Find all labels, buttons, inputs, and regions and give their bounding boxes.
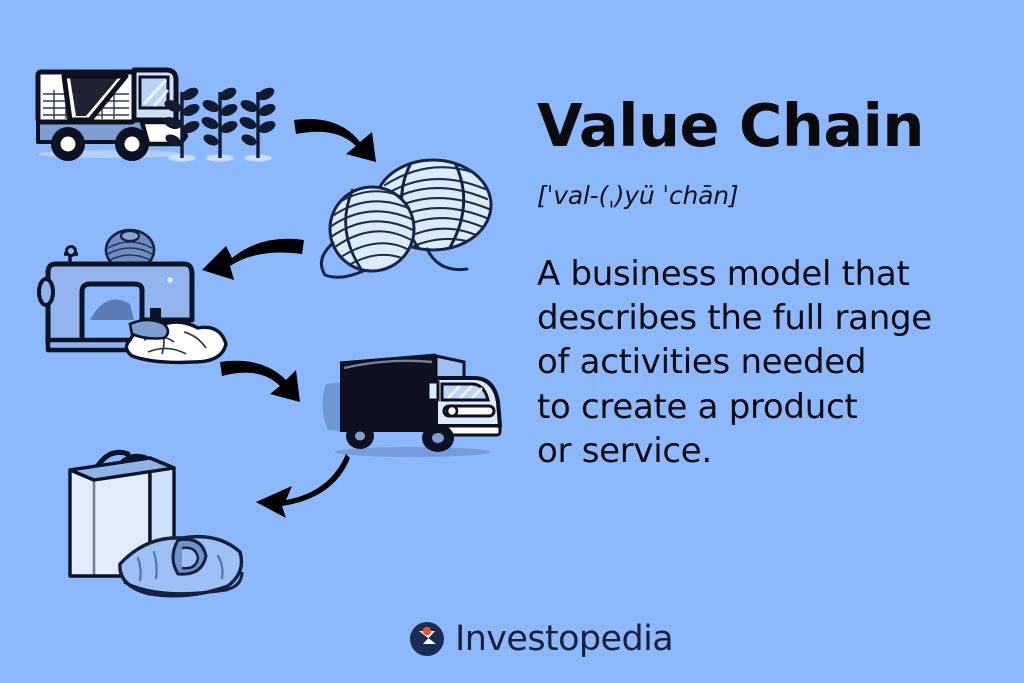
definition-line: describes the full range — [537, 296, 987, 340]
flow-arrow-3-icon — [214, 352, 324, 412]
definition-line: of activities needed — [537, 340, 987, 384]
definition-line: or service. — [537, 429, 987, 473]
investopedia-logo: Investopedia — [408, 620, 673, 658]
cotton-harvester-and-plants-illustration — [30, 50, 290, 165]
yarn-loose-thread — [427, 249, 467, 270]
pronunciation-text: [ˈval-(ˌ)yü ˈchān] — [537, 155, 987, 210]
page-title: Value Chain — [537, 96, 987, 155]
cotton-plant — [238, 85, 278, 161]
definition-line: A business model that — [537, 252, 987, 296]
yarn-balls-illustration — [315, 155, 505, 285]
delivery-truck-illustration — [318, 348, 503, 463]
harvester-truck — [38, 70, 186, 161]
definition-text: A business model that describes the full… — [537, 210, 987, 473]
shopping-bag-and-clothing-illustration — [50, 440, 255, 600]
investopedia-circle-mark-icon — [408, 620, 446, 658]
yarn-ball-small — [330, 187, 416, 271]
definition-panel: Value Chain [ˈval-(ˌ)yü ˈchān] A busines… — [537, 96, 987, 473]
definition-line: to create a product — [537, 385, 987, 429]
investopedia-wordmark: Investopedia — [455, 622, 673, 657]
flow-arrow-4-icon — [238, 448, 353, 523]
cotton-plant — [200, 85, 240, 161]
value-chain-infographic: Value Chain [ˈval-(ˌ)yü ˈchān] A busines… — [0, 0, 1024, 683]
illustration-stage — [0, 0, 520, 620]
sewing-machine-illustration — [34, 228, 234, 368]
